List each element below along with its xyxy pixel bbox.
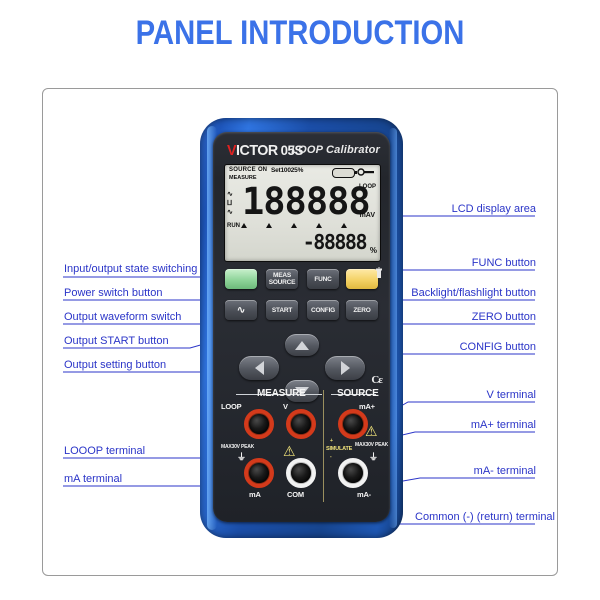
callout-func-button: FUNC button: [472, 257, 536, 269]
v-terminal-label: V: [283, 402, 288, 411]
loop-terminal-label: LOOP: [221, 402, 241, 411]
ground-symbol-right: ⏚: [369, 450, 378, 463]
power-button[interactable]: [225, 269, 257, 289]
page-title: PANEL INTRODUCTION: [42, 14, 558, 53]
com-terminal-jack[interactable]: [286, 458, 316, 488]
callout-config-button: CONFIG button: [460, 341, 536, 353]
ma-terminal-label: mA: [249, 490, 261, 499]
warning-icon-left: ⚠: [283, 444, 296, 458]
start-button[interactable]: START: [266, 300, 298, 320]
terminal-panel: MEASURE SOURCE LOOP V mA+ MAX30V PEAK ⏚ …: [213, 382, 390, 522]
warning-icon-right: ⚠: [365, 424, 378, 438]
measure-group-label: MEASURE: [257, 388, 306, 399]
ma-minus-terminal-jack[interactable]: [338, 458, 368, 488]
com-terminal-label: COM: [287, 490, 304, 499]
arrow-left-button[interactable]: [239, 356, 279, 380]
ma-terminal-jack[interactable]: [244, 458, 274, 488]
zero-button[interactable]: ZERO: [346, 300, 378, 320]
callout-zero-button: ZERO button: [472, 311, 536, 323]
callout-backlight-flashlight-button: Backlight/flashlight button: [411, 287, 536, 299]
simulate-plus-label: +: [330, 438, 333, 444]
arrow-right-icon: [341, 361, 350, 375]
callout-ma-terminal: mA terminal: [64, 473, 122, 485]
arrow-up-icon: [295, 341, 309, 350]
ma-minus-terminal-label: mA-: [357, 490, 371, 499]
callout-v-terminal: V terminal: [486, 389, 536, 401]
callout-input-output-state-switching: Input/output state switching: [64, 263, 197, 275]
meas-source-button[interactable]: MEAS SOURCE: [266, 269, 298, 289]
simulate-label: SIMULATE: [326, 446, 352, 452]
ma-plus-terminal-label: mA+: [359, 402, 375, 411]
callout-output-waveform-switch: Output waveform switch: [64, 311, 181, 323]
ma-plus-terminal-jack[interactable]: [338, 409, 368, 439]
callout-ma-plus-terminal: mA+ terminal: [471, 419, 536, 431]
simulate-minus-label: -: [330, 454, 331, 460]
callout-output-start-button: Output START button: [64, 335, 169, 347]
callout-ma-minus-terminal: mA- terminal: [474, 465, 536, 477]
v-terminal-jack[interactable]: [286, 409, 316, 439]
ground-symbol-left: ⏚: [237, 450, 246, 463]
loop-terminal-jack[interactable]: [244, 409, 274, 439]
device-front-panel: VICTOR05S LOOP Calibrator SOURCE ON Set1…: [213, 132, 390, 522]
case-highlight-right: [389, 128, 397, 528]
config-button[interactable]: CONFIG: [307, 300, 339, 320]
flashlight-icon: [374, 267, 384, 279]
group-separator: [323, 390, 324, 502]
source-group-label: SOURCE: [337, 388, 379, 399]
arrow-right-button[interactable]: [325, 356, 365, 380]
callout-common-return-terminal: Common (-) (return) terminal: [415, 511, 555, 523]
callout-output-setting-button: Output setting button: [64, 359, 166, 371]
max-peak-right-label: MAX30V PEAK: [355, 442, 388, 448]
arrow-up-button[interactable]: [285, 334, 319, 356]
arrow-left-icon: [255, 361, 264, 375]
func-button[interactable]: FUNC: [307, 269, 339, 289]
waveform-button[interactable]: ∿: [225, 300, 257, 320]
callout-power-switch-button: Power switch button: [64, 287, 162, 299]
device-loop-calibrator: VICTOR05S LOOP Calibrator SOURCE ON Set1…: [200, 118, 403, 538]
callout-lcd-display-area: LCD display area: [452, 203, 536, 215]
callout-loop-terminal: LOOOP terminal: [64, 445, 145, 457]
